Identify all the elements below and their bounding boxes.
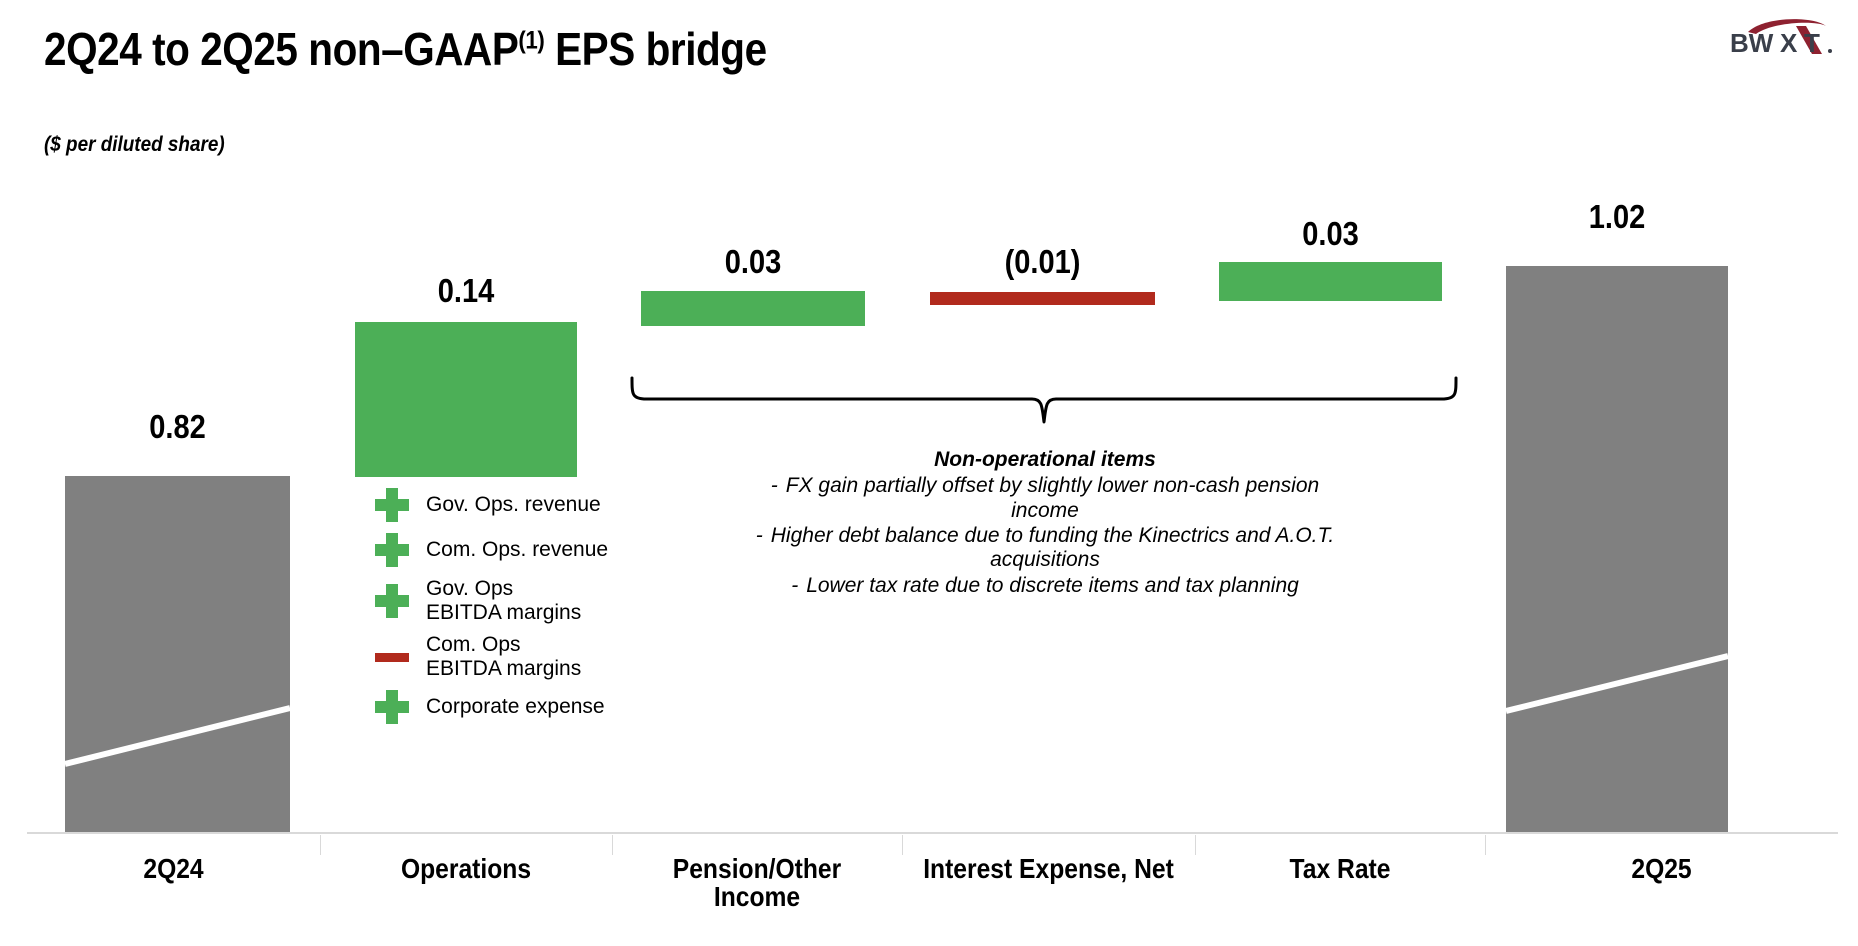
legend-item: Gov. Ops. revenue — [374, 487, 634, 523]
bar-tax-rate — [1219, 262, 1442, 301]
legend-item: Com. Ops. revenue — [374, 532, 634, 568]
axis-label-interest-expense-net: Interest Expense, Net — [920, 855, 1178, 883]
bar-slash-icon — [65, 476, 290, 832]
non-operational-callout: Non-operational items -FX gain partially… — [735, 448, 1355, 598]
value-label-tax-rate: 0.03 — [1232, 215, 1428, 253]
value-label-2q24: 0.82 — [79, 408, 277, 446]
bar-slash-icon — [1506, 266, 1728, 832]
value-label-pension-other-income: 0.03 — [654, 243, 851, 281]
legend-item-label: Corporate expense — [426, 695, 605, 719]
plus-icon — [374, 487, 410, 523]
axis-divider — [1195, 835, 1196, 855]
axis-label-tax-rate: Tax Rate — [1212, 855, 1467, 883]
bullet-dash-icon: - — [756, 524, 763, 547]
legend-item-label: Gov. Ops EBITDA margins — [426, 577, 581, 624]
callout-item-text: Lower tax rate due to discrete items and… — [806, 574, 1299, 597]
bar-2q24 — [65, 476, 290, 832]
bullet-dash-icon: - — [771, 474, 778, 497]
bar-pension-other-income — [641, 291, 865, 326]
value-label-2q25: 1.02 — [1519, 198, 1714, 236]
bar-operations — [355, 322, 577, 477]
axis-baseline — [27, 832, 1838, 854]
axis-divider — [612, 835, 613, 855]
legend-item-label: Com. Ops EBITDA margins — [426, 633, 581, 680]
callout-heading: Non-operational items — [735, 448, 1355, 472]
plus-icon — [374, 532, 410, 568]
operations-legend: Gov. Ops. revenue Com. Ops. revenue Gov.… — [374, 487, 634, 734]
callout-item: -FX gain partially offset by slightly lo… — [735, 474, 1355, 523]
axis-divider — [1485, 835, 1486, 855]
callout-item: -Higher debt balance due to funding the … — [735, 524, 1355, 573]
callout-item-text: Higher debt balance due to funding the K… — [771, 524, 1334, 571]
plus-icon — [374, 689, 410, 725]
axis-label-pension-other-income: Pension/Other Income — [629, 855, 884, 911]
non-operational-brace — [628, 376, 1460, 424]
legend-item-label: Com. Ops. revenue — [426, 538, 608, 562]
legend-item: Com. Ops EBITDA margins — [374, 633, 634, 680]
minus-dash-icon — [374, 639, 410, 675]
bullet-dash-icon: - — [791, 574, 798, 597]
bar-2q25 — [1506, 266, 1728, 832]
axis-divider — [902, 835, 903, 855]
axis-label-operations: Operations — [338, 855, 595, 883]
waterfall-chart: 0.82 0.14 0.03 (0.01) 0.03 1.02 Non-oper… — [0, 0, 1858, 946]
axis-divider — [320, 835, 321, 855]
callout-item-text: FX gain partially offset by slightly low… — [786, 474, 1319, 521]
axis-label-2q25: 2Q25 — [1506, 855, 1817, 883]
plus-icon — [374, 583, 410, 619]
value-label-interest-expense-net: (0.01) — [944, 243, 1142, 281]
value-label-operations: 0.14 — [368, 272, 563, 310]
legend-item-label: Gov. Ops. revenue — [426, 493, 601, 517]
legend-item: Gov. Ops EBITDA margins — [374, 577, 634, 624]
axis-label-2q24: 2Q24 — [45, 855, 303, 883]
legend-item: Corporate expense — [374, 689, 634, 725]
bar-interest-expense-net — [930, 292, 1155, 305]
callout-item: -Lower tax rate due to discrete items an… — [735, 574, 1355, 598]
